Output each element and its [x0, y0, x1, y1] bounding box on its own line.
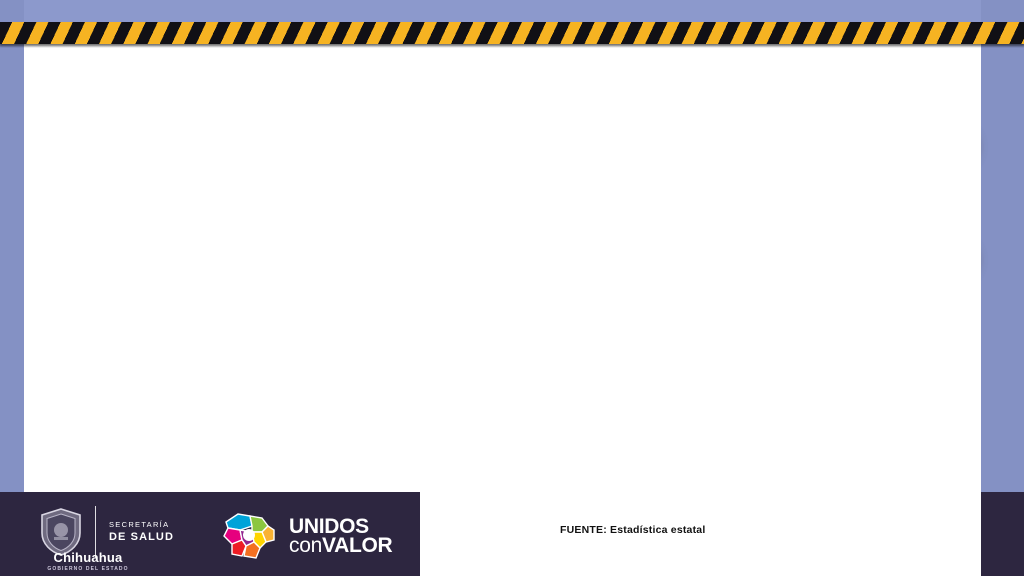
chihuahua-state-sub: GOBIERNO DEL ESTADO: [38, 566, 138, 572]
slide-canvas: [24, 40, 981, 502]
chihuahua-state-name: Chihuahua: [38, 550, 138, 565]
unidos-con-valor-text: UNIDOS conVALOR: [289, 517, 392, 556]
unidos-con: con: [289, 534, 322, 557]
hazard-stripe-decoration: [0, 22, 1024, 44]
chihuahua-map-icon: [218, 510, 280, 562]
unidos-con-valor-logo: UNIDOS conVALOR: [218, 510, 392, 562]
hazard-stripe-shadow: [0, 44, 1024, 48]
unidos-line2: conVALOR: [289, 536, 392, 555]
footer-bar: SECRETARÍA DE SALUD Chihuahua GOBIERNO D…: [0, 492, 1024, 576]
left-background-band: [0, 0, 24, 576]
secretaria-de-salud-wordmark: SECRETARÍA DE SALUD: [109, 520, 174, 545]
secretaria-line2: DE SALUD: [109, 530, 174, 545]
chihuahua-wordmark: Chihuahua GOBIERNO DEL ESTADO: [38, 550, 138, 572]
right-background-band: [981, 0, 1024, 576]
secretaria-line1: SECRETARÍA: [109, 520, 174, 530]
unidos-valor: VALOR: [322, 534, 392, 557]
shield-icon: [40, 508, 82, 556]
source-note: FUENTE: Estadística estatal: [560, 524, 705, 536]
